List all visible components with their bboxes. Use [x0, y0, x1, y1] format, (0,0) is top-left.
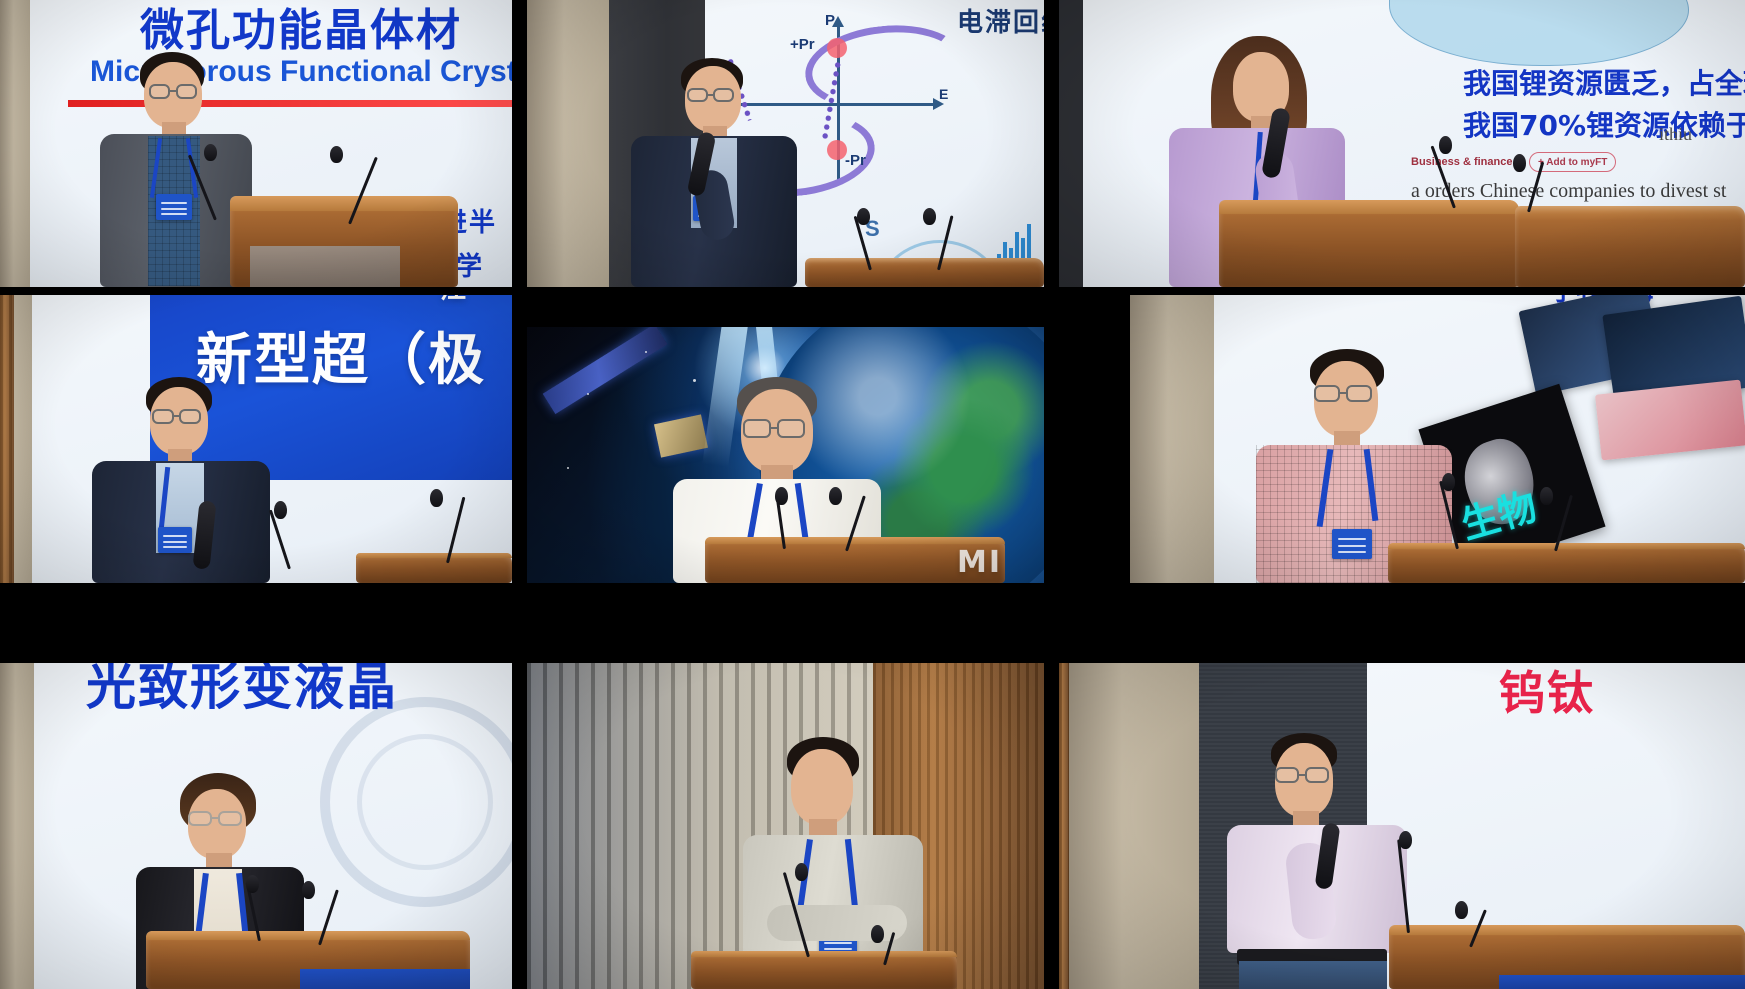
slide-footer-cn: 江 [440, 295, 468, 306]
glasses-bridge [771, 427, 777, 429]
scene: 新型超（极 江 [0, 295, 512, 583]
microphone-head-2 [829, 487, 842, 505]
wall [1059, 0, 1083, 287]
wood-wall-panel [0, 295, 14, 583]
speaker-person [90, 377, 270, 583]
arm-folded [767, 905, 907, 941]
glasses-left-lens [687, 88, 708, 102]
microphone-head-2 [330, 146, 343, 163]
speaker-person [1227, 733, 1407, 989]
wall [0, 663, 34, 989]
photo-cell-speaker-microporous-crystals[interactable]: 微孔功能晶体材 Microporous Functional Cryst 级光进… [0, 0, 512, 287]
microphone-head-1 [274, 501, 287, 519]
photo-cell-speaker-novel-superstructure[interactable]: 新型超（极 江 [0, 295, 512, 583]
scene [527, 663, 1044, 989]
star-icon [567, 467, 569, 469]
name-badge [156, 194, 192, 220]
glasses-left-lens [149, 84, 170, 99]
podium-right-section [1515, 206, 1745, 287]
slide-title-cn: 微孔功能晶体材 [140, 0, 462, 58]
microphone-head-2 [1540, 487, 1553, 505]
microphone-head-1 [795, 863, 808, 881]
marker-label-negative: -Pr [845, 152, 866, 169]
microphone-head-2 [871, 925, 884, 943]
scene: 钨钛 [1059, 663, 1745, 989]
glasses-bridge [170, 90, 176, 92]
glasses-bridge [1340, 392, 1346, 394]
photo-cell-speaker-space-earth[interactable]: MI [527, 327, 1044, 583]
glasses-left-lens [188, 811, 212, 826]
photo-cell-speaker-lithium-resources[interactable]: 我国锂资源匮乏，占全球6.3% 我国70%锂资源依赖于从加拿大 Business… [1059, 0, 1745, 287]
glasses-right-lens [179, 409, 201, 424]
podium-top [705, 537, 1005, 544]
glasses-right-lens [713, 88, 734, 102]
podium-top [691, 951, 957, 957]
glasses-right-lens [1346, 385, 1372, 402]
glasses-left-lens [152, 409, 174, 424]
marker-label-positive: +Pr [790, 36, 815, 53]
microphone-head-1 [857, 208, 870, 225]
speaker-person [631, 58, 797, 287]
news-category-tag: Business & finance [1411, 156, 1512, 168]
slide-title-cn: 钨钛 [1499, 663, 1595, 723]
glasses-left-lens [743, 419, 771, 438]
wall [1130, 295, 1214, 583]
wood-wall-panel [1059, 663, 1069, 989]
scene: 我国锂资源匮乏，占全球6.3% 我国70%锂资源依赖于从加拿大 Business… [1059, 0, 1745, 287]
scene: 光致形变液晶 职 [0, 663, 512, 989]
wall [527, 0, 609, 287]
name-badge [158, 527, 192, 553]
glasses-right-lens [1305, 767, 1329, 783]
microphone-head-2 [923, 208, 936, 225]
microphone-head-1 [246, 875, 259, 893]
jeans [1239, 961, 1387, 989]
name-badge [1332, 529, 1372, 559]
glasses-left-lens [1275, 767, 1299, 783]
slide-line-2-cn: 我国70%锂资源依赖于从加拿大 [1463, 104, 1745, 144]
slide-title-cn: 电滞回线 [957, 2, 1044, 39]
podium-top [1389, 925, 1745, 935]
head [791, 749, 853, 825]
podium-front-panel [1499, 975, 1745, 989]
glasses-right-lens [176, 84, 197, 99]
remanent-polarization-marker-positive [827, 38, 847, 58]
microphone-head-1 [775, 487, 788, 505]
glasses-bridge [708, 94, 713, 96]
podium-top [1388, 543, 1745, 549]
star-icon [645, 351, 647, 353]
podium [1388, 543, 1745, 583]
microphone-head-1 [1439, 136, 1452, 154]
photo-cell-speaker-fudan-liquid-crystal[interactable]: 光致形变液晶 职 [0, 663, 512, 989]
photo-collage-grid: 微孔功能晶体材 Microporous Functional Cryst 级光进… [0, 0, 1745, 989]
podium [691, 951, 957, 989]
star-icon [587, 393, 589, 395]
glasses-left-lens [1314, 385, 1340, 402]
microphone-head-2 [302, 881, 315, 899]
slide-line-1-cn: 我国锂资源匮乏，占全球6.3% [1463, 62, 1745, 102]
microphone-head-2 [1455, 901, 1468, 919]
photo-cell-speaker-tungsten-titanium[interactable]: 钨钛 [1059, 663, 1745, 989]
slide-title-cn: 光致形变液晶 [86, 663, 398, 719]
podium-top [356, 553, 512, 558]
podium-base [250, 246, 400, 287]
podium-front-panel [300, 969, 470, 989]
podium-top [1219, 200, 1519, 214]
scene: 电滞回线 P E +Pr -Pr S [527, 0, 1044, 287]
glasses-bridge [212, 817, 218, 819]
podium [1219, 200, 1519, 287]
scene: 于我国海 生物 [1130, 295, 1745, 583]
plot-y-axis-label: P [825, 12, 835, 29]
podium-top [230, 196, 458, 211]
slide-side-note-en: ithiu [1659, 124, 1692, 145]
microphone-head-1 [204, 144, 217, 161]
slide-overlay-text: MI [957, 545, 1002, 580]
wall [0, 0, 30, 287]
glasses-right-lens [218, 811, 242, 826]
photo-cell-speaker-ferroelectric-hysteresis[interactable]: 电滞回线 P E +Pr -Pr S [527, 0, 1044, 287]
photo-cell-speaker-curtain-room[interactable] [527, 663, 1044, 989]
photo-cell-speaker-biomedical-imaging[interactable]: 于我国海 生物 [1130, 295, 1745, 583]
podium-top [146, 931, 470, 940]
microphone-head-2 [1513, 154, 1526, 172]
glasses-right-lens [777, 419, 805, 438]
scene: 微孔功能晶体材 Microporous Functional Cryst 级光进… [0, 0, 512, 287]
wall [1059, 663, 1199, 989]
remanent-polarization-marker-negative [827, 140, 847, 160]
microphone-head-1 [1399, 831, 1412, 849]
microphone-head-1 [1442, 473, 1455, 491]
glasses-bridge [174, 415, 179, 417]
scene: MI [527, 327, 1044, 583]
glasses-bridge [1299, 774, 1305, 776]
microphone-head-2 [430, 489, 443, 507]
podium [356, 553, 512, 583]
podium [805, 258, 1044, 287]
